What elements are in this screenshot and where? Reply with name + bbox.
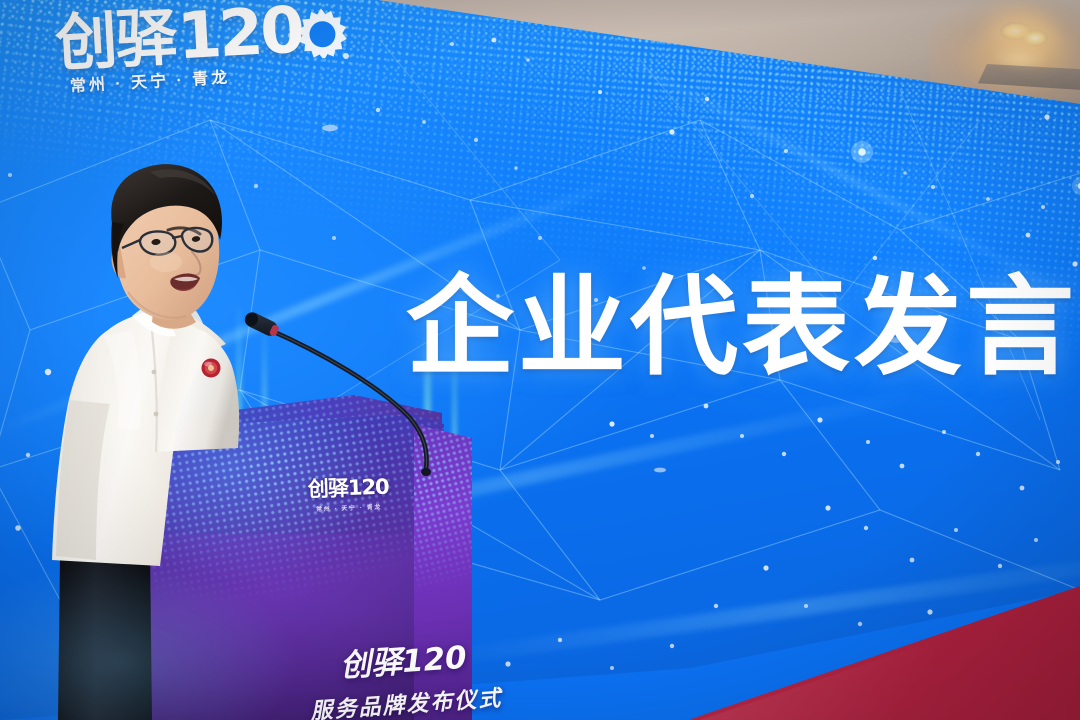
event-logo: 创驿120 常州 · 天宁 · 青龙 [54, 0, 351, 97]
light-shaft [236, 300, 242, 440]
ceiling-spotlight-secondary-icon [1022, 30, 1048, 46]
event-photo-stage: 企业代表发言 创驿120 常州 · 天宁 · 青龙 [0, 0, 1080, 720]
podium-front-footnote: 常州市天宁区 [303, 717, 513, 720]
light-shaft [262, 320, 267, 440]
event-logo-number: 120 [175, 0, 304, 74]
screen-headline: 企业代表发言 [406, 274, 1078, 382]
gear-icon [295, 5, 350, 60]
